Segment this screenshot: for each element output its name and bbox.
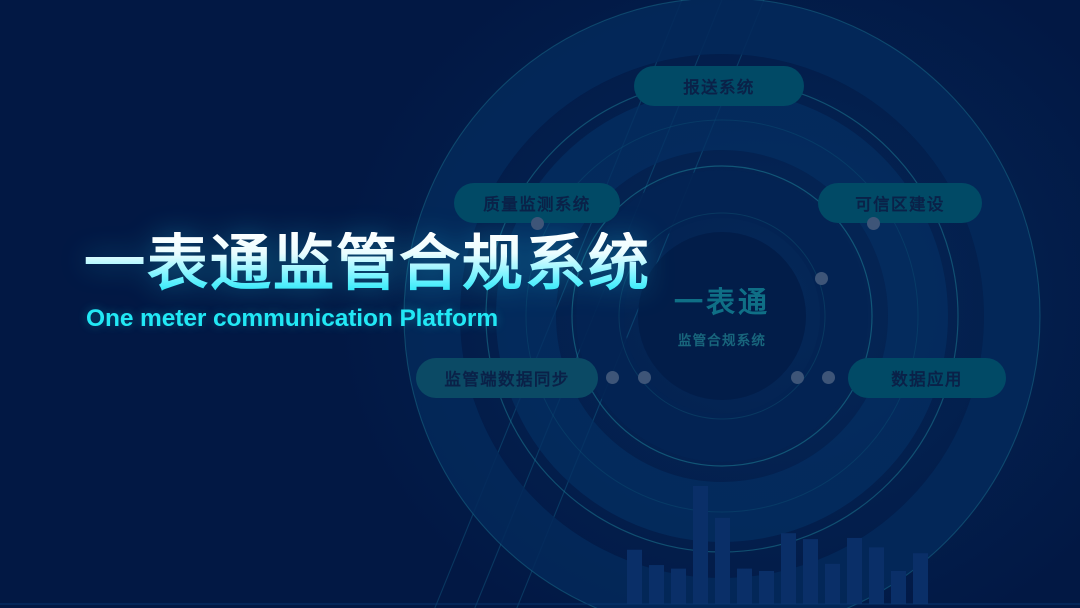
node-shuju[interactable]: 数据应用 (848, 358, 1006, 398)
node-kexin[interactable]: 可信区建设 (818, 183, 982, 223)
node-tongbu[interactable]: 监管端数据同步 (416, 358, 598, 398)
slide-canvas: 一表通监管合规系统 One meter communication Platfo… (0, 0, 1080, 608)
connector-dot-kexin (867, 217, 880, 230)
connector-dot-hub-topright (815, 272, 828, 285)
connector-dot-shuju-b (822, 371, 835, 384)
headline-block: 一表通监管合规系统 One meter communication Platfo… (84, 232, 684, 333)
connector-dot-shuju-a (791, 371, 804, 384)
connector-dot-tongbu-a (606, 371, 619, 384)
node-baosong[interactable]: 报送系统 (634, 66, 804, 106)
connector-dot-tongbu-b (638, 371, 651, 384)
connector-dot-zhiliang (531, 217, 544, 230)
page-title: 一表通监管合规系统 (84, 232, 684, 295)
page-subtitle: One meter communication Platform (86, 305, 684, 333)
